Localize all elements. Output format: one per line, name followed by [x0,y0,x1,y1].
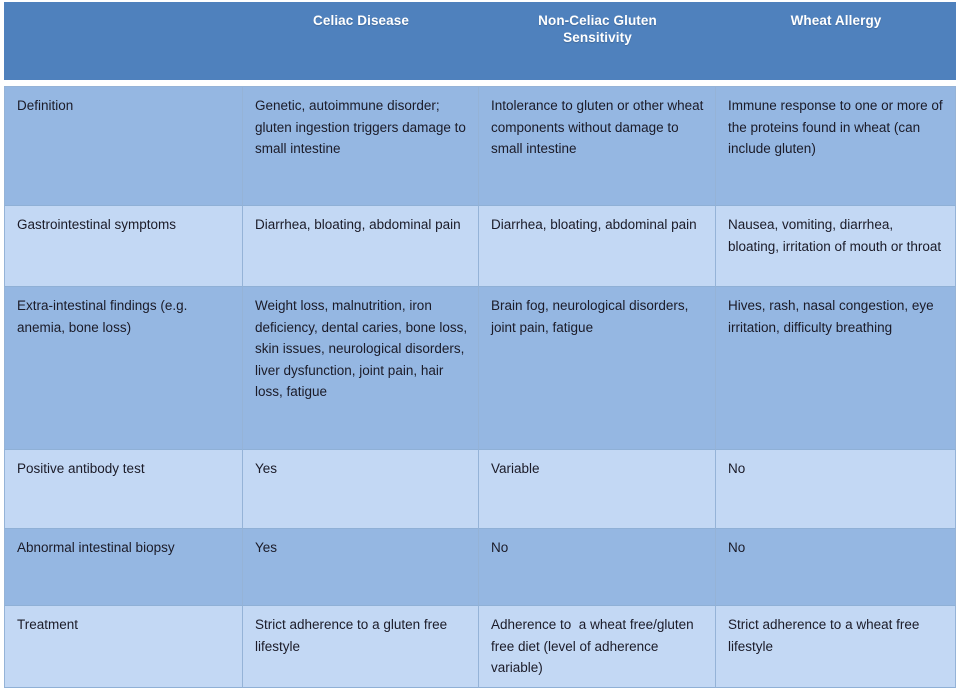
cell-text: Strict adherence to a wheat free lifesty… [728,614,945,657]
column-header-ncgs-label-line1: Non-Celiac Gluten [485,12,710,29]
row-feature-cell: Extra-intestinal findings (e.g. anemia, … [4,287,243,450]
row-feature-cell: Gastrointestinal symptoms [4,206,243,287]
cell-text: No [728,537,945,559]
row-wheat-cell: No [716,450,956,529]
table-header: Celiac Disease Non-Celiac Gluten Sensiti… [4,2,956,86]
row-wheat-cell: Strict adherence to a wheat free lifesty… [716,606,956,688]
cell-text: Nausea, vomiting, diarrhea, bloating, ir… [728,214,945,257]
cell-text: Hives, rash, nasal congestion, eye irrit… [728,295,945,338]
cell-text: Abnormal intestinal biopsy [17,537,232,559]
table-row: Definition Genetic, autoimmune disorder;… [4,86,956,206]
row-celiac-cell: Yes [243,450,479,529]
row-ncgs-cell: Variable [479,450,716,529]
column-header-ncgs-label-line2: Sensitivity [485,29,710,46]
table-row: Abnormal intestinal biopsy Yes No No [4,529,956,606]
table-row: Treatment Strict adherence to a gluten f… [4,606,956,688]
table-header-row: Celiac Disease Non-Celiac Gluten Sensiti… [4,2,956,80]
cell-text: Treatment [17,614,232,636]
cell-text: Gastrointestinal symptoms [17,214,232,236]
cell-text: No [728,458,945,480]
cell-text: Positive antibody test [17,458,232,480]
cell-text: Strict adherence to a gluten free lifest… [255,614,468,657]
row-ncgs-cell: Adherence to a wheat free/gluten free di… [479,606,716,688]
comparison-table-container: Celiac Disease Non-Celiac Gluten Sensiti… [4,2,956,690]
row-ncgs-cell: Brain fog, neurological disorders, joint… [479,287,716,450]
column-header-feature [4,2,243,80]
cell-text: Yes [255,537,468,559]
column-header-wheat-allergy-label: Wheat Allergy [722,12,950,29]
row-feature-cell: Abnormal intestinal biopsy [4,529,243,606]
cell-text: Genetic, autoimmune disorder; gluten ing… [255,95,468,160]
row-wheat-cell: No [716,529,956,606]
table-row: Extra-intestinal findings (e.g. anemia, … [4,287,956,450]
cell-text: Brain fog, neurological disorders, joint… [491,295,705,338]
row-ncgs-cell: Diarrhea, bloating, abdominal pain [479,206,716,287]
row-wheat-cell: Hives, rash, nasal congestion, eye irrit… [716,287,956,450]
cell-text: No [491,537,705,559]
row-feature-cell: Definition [4,86,243,206]
table-body: Definition Genetic, autoimmune disorder;… [4,86,956,688]
gluten-conditions-comparison-table: Celiac Disease Non-Celiac Gluten Sensiti… [4,2,956,688]
row-celiac-cell: Weight loss, malnutrition, iron deficien… [243,287,479,450]
cell-text: Adherence to a wheat free/gluten free di… [491,614,705,679]
cell-text: Variable [491,458,705,480]
cell-text: Diarrhea, bloating, abdominal pain [255,214,468,236]
column-header-celiac-disease: Celiac Disease [243,2,479,80]
row-wheat-cell: Nausea, vomiting, diarrhea, bloating, ir… [716,206,956,287]
column-header-celiac-disease-label: Celiac Disease [249,12,473,29]
table-row: Positive antibody test Yes Variable No [4,450,956,529]
row-celiac-cell: Diarrhea, bloating, abdominal pain [243,206,479,287]
row-feature-cell: Positive antibody test [4,450,243,529]
row-celiac-cell: Strict adherence to a gluten free lifest… [243,606,479,688]
cell-text: Extra-intestinal findings (e.g. anemia, … [17,295,232,338]
row-feature-cell: Treatment [4,606,243,688]
cell-text: Yes [255,458,468,480]
cell-text: Immune response to one or more of the pr… [728,95,945,160]
column-header-non-celiac-gluten-sensitivity: Non-Celiac Gluten Sensitivity [479,2,716,80]
cell-text: Diarrhea, bloating, abdominal pain [491,214,705,236]
row-celiac-cell: Genetic, autoimmune disorder; gluten ing… [243,86,479,206]
row-celiac-cell: Yes [243,529,479,606]
row-ncgs-cell: No [479,529,716,606]
cell-text: Weight loss, malnutrition, iron deficien… [255,295,468,403]
table-row: Gastrointestinal symptoms Diarrhea, bloa… [4,206,956,287]
row-wheat-cell: Immune response to one or more of the pr… [716,86,956,206]
cell-text: Intolerance to gluten or other wheat com… [491,95,705,160]
column-header-wheat-allergy: Wheat Allergy [716,2,956,80]
cell-text: Definition [17,95,232,117]
row-ncgs-cell: Intolerance to gluten or other wheat com… [479,86,716,206]
